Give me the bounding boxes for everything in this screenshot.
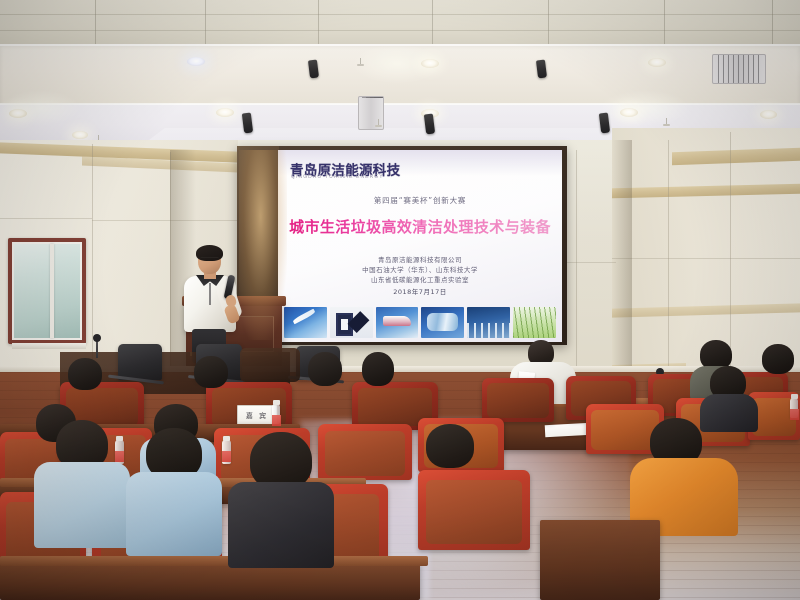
audience-person [228, 432, 334, 560]
audience-person [700, 366, 758, 422]
ceiling-downlight [421, 59, 439, 68]
field-thumbnail [513, 307, 556, 338]
slide-image-strip [284, 307, 556, 338]
audience-person [352, 352, 404, 390]
seat [418, 470, 530, 550]
audience-desk [540, 520, 660, 600]
conference-hall-photo: 青岛原洁能源科技 QINGDAO YUANJIE ENERGY 第四届“赛美杯”… [0, 0, 800, 600]
gooseneck-microphone [96, 340, 98, 358]
air-vent-grille [712, 54, 766, 84]
audience-person [186, 356, 238, 390]
sprinkler-head [666, 118, 667, 125]
audience-person [56, 358, 114, 392]
company-logo-subtext: QINGDAO YUANJIE ENERGY [291, 174, 384, 180]
ceiling-downlight [216, 108, 234, 117]
ceiling-soffit-upper [0, 44, 800, 106]
ceiling-downlight [187, 57, 205, 66]
office-chair [118, 344, 162, 380]
ceiling-downlight [648, 58, 666, 67]
audience-person [126, 428, 222, 548]
window-glass [12, 242, 82, 340]
ship-thumbnail [376, 307, 419, 338]
affiliation-line: 青岛原洁能源科技有限公司 [278, 255, 562, 265]
rocket-thumbnail [284, 307, 327, 338]
slide-date: 2018年7月17日 [278, 287, 562, 297]
water-bottle [790, 398, 798, 418]
ceiling-tiles [0, 0, 800, 46]
audience-person [34, 420, 130, 540]
ceiling-downlight [72, 131, 88, 139]
paper-documents [545, 423, 592, 437]
rear-object [240, 348, 300, 382]
affiliation-line: 山东省低碳能源化工重点实验室 [278, 275, 562, 285]
window-sill [12, 343, 86, 349]
presentation-slide: 青岛原洁能源科技 QINGDAO YUANJIE ENERGY 第四届“赛美杯”… [278, 150, 562, 342]
side-window [8, 238, 86, 344]
audience-desk [0, 562, 420, 600]
affiliation-line: 中国石油大学（华东）、山东科技大学 [278, 265, 562, 275]
audience-person [756, 344, 800, 386]
plant-thumbnail [467, 307, 510, 338]
slide-affiliations: 青岛原洁能源科技有限公司 中国石油大学（华东）、山东科技大学 山东省低碳能源化工… [278, 255, 562, 297]
chip-thumbnail [330, 307, 373, 338]
eyeglasses [200, 257, 219, 263]
seat [482, 378, 554, 422]
slide-subtitle: 第四届“赛美杯”创新大赛 [278, 195, 562, 206]
slide-title: 城市生活垃圾高效清洁处理技术与装备 [278, 216, 562, 237]
audience-person-orange-shirt [630, 418, 738, 528]
ceiling-downlight [760, 110, 777, 119]
water-bottle [272, 404, 280, 424]
ceiling-downlight [9, 109, 27, 118]
sprinkler-head [360, 58, 361, 65]
audience-desk-top [0, 556, 428, 566]
audience-person [300, 352, 352, 390]
sprinkler-head [378, 119, 379, 126]
machinery-thumbnail [421, 307, 464, 338]
ceiling-downlight [620, 108, 638, 117]
